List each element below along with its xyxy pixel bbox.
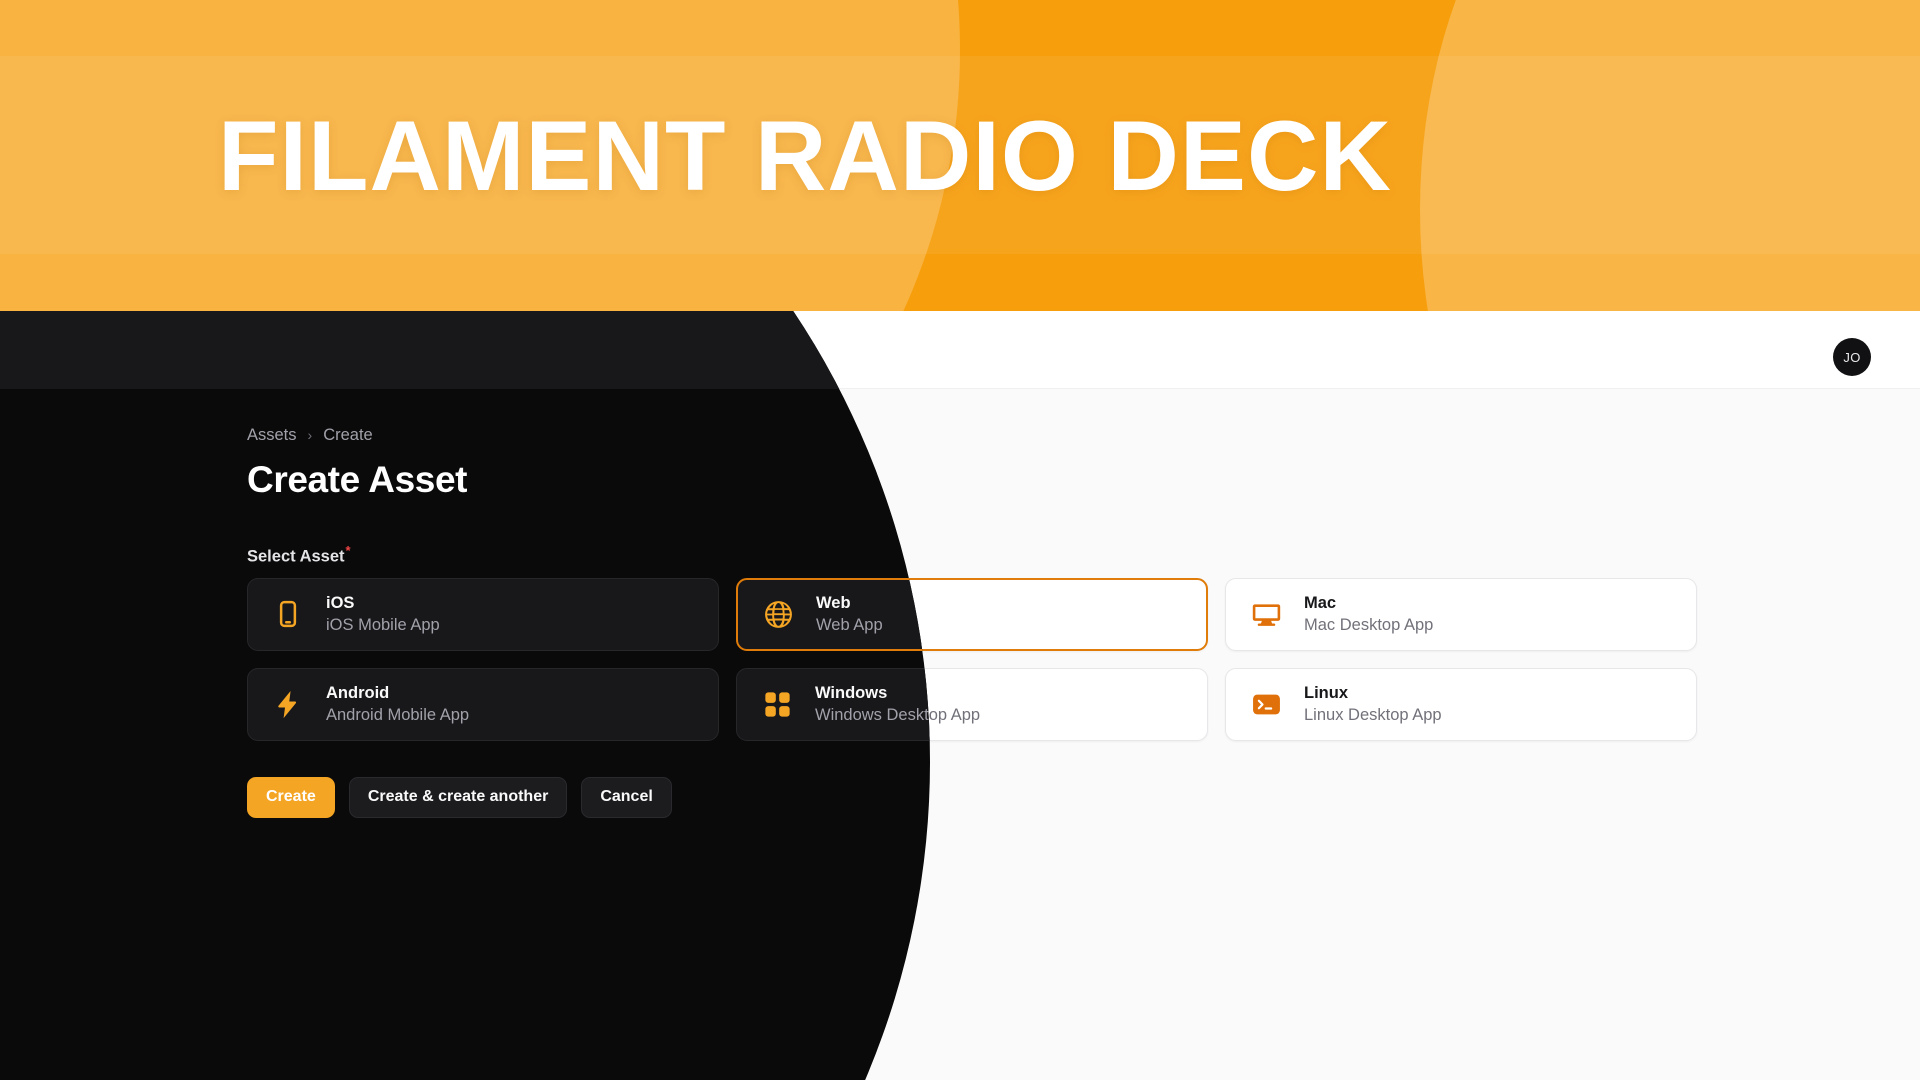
bolt-icon	[270, 686, 306, 722]
radio-option-description: Linux Desktop App	[1304, 706, 1442, 724]
radio-option-description: Mac Desktop App	[1304, 616, 1433, 634]
create-and-create-another-button[interactable]: Create & create another	[349, 777, 568, 818]
device-phone-mobile-icon	[270, 596, 306, 632]
select-asset-label-text: Select Asset	[247, 547, 345, 565]
globe-icon	[760, 596, 796, 632]
radio-option-mac[interactable]: Mac Mac Desktop App	[1225, 578, 1697, 651]
radio-option-text: iOS iOS Mobile App	[326, 594, 440, 633]
command-line-icon	[1248, 686, 1284, 722]
radio-option-description: Web App	[816, 616, 883, 634]
chevron-right-icon: ›	[308, 428, 313, 442]
banner-title: FILAMENT RADIO DECK	[0, 0, 1920, 311]
avatar-light[interactable]: JO	[1833, 338, 1871, 376]
radio-option-description: Android Mobile App	[326, 706, 469, 724]
radio-option-text: Web Web App	[816, 594, 883, 633]
radio-option-title: Android	[326, 684, 469, 702]
computer-desktop-icon	[1248, 596, 1284, 632]
app-root: FILAMENT RADIO DECK JO Assets › Create C…	[0, 0, 1920, 1080]
radio-option-title: Linux	[1304, 684, 1442, 702]
cancel-button[interactable]: Cancel	[581, 777, 671, 818]
radio-option-text: Mac Mac Desktop App	[1304, 594, 1433, 633]
radio-option-title: iOS	[326, 594, 440, 612]
radio-option-linux[interactable]: Linux Linux Desktop App	[1225, 668, 1697, 741]
required-marker: *	[346, 543, 351, 558]
radio-option-description: iOS Mobile App	[326, 616, 440, 634]
squares-2x2-icon	[759, 686, 795, 722]
radio-option-ios[interactable]: iOS iOS Mobile App	[247, 578, 719, 651]
breadcrumb-item-assets[interactable]: Assets	[247, 426, 297, 445]
radio-option-android[interactable]: Android Android Mobile App	[247, 668, 719, 741]
radio-option-title: Web	[816, 594, 883, 612]
breadcrumb-item-create[interactable]: Create	[323, 426, 373, 445]
radio-option-title: Mac	[1304, 594, 1433, 612]
radio-option-text: Android Android Mobile App	[326, 684, 469, 723]
create-button[interactable]: Create	[247, 777, 335, 818]
page-banner: FILAMENT RADIO DECK	[0, 0, 1920, 311]
radio-option-text: Linux Linux Desktop App	[1304, 684, 1442, 723]
